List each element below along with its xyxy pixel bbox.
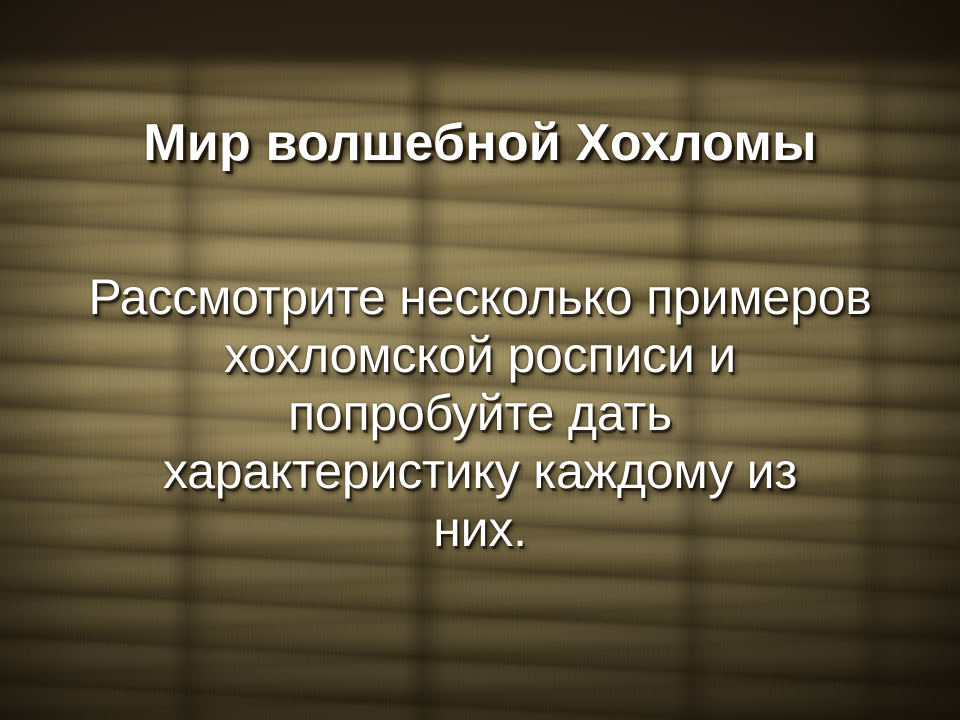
slide-content: Мир волшебной Хохломы Рассмотрите нескол… — [0, 0, 960, 720]
body-line: хохломской росписи и — [40, 326, 920, 384]
body-line: характеристику каждому из — [40, 442, 920, 500]
body-line: Рассмотрите несколько примеров — [40, 268, 920, 326]
body-line: попробуйте дать — [40, 384, 920, 442]
body-line: них. — [40, 500, 920, 558]
slide-body-text: Рассмотрите несколько примеров хохломско… — [40, 268, 920, 558]
presentation-slide: Мир волшебной Хохломы Рассмотрите нескол… — [0, 0, 960, 720]
slide-title: Мир волшебной Хохломы — [0, 113, 960, 173]
